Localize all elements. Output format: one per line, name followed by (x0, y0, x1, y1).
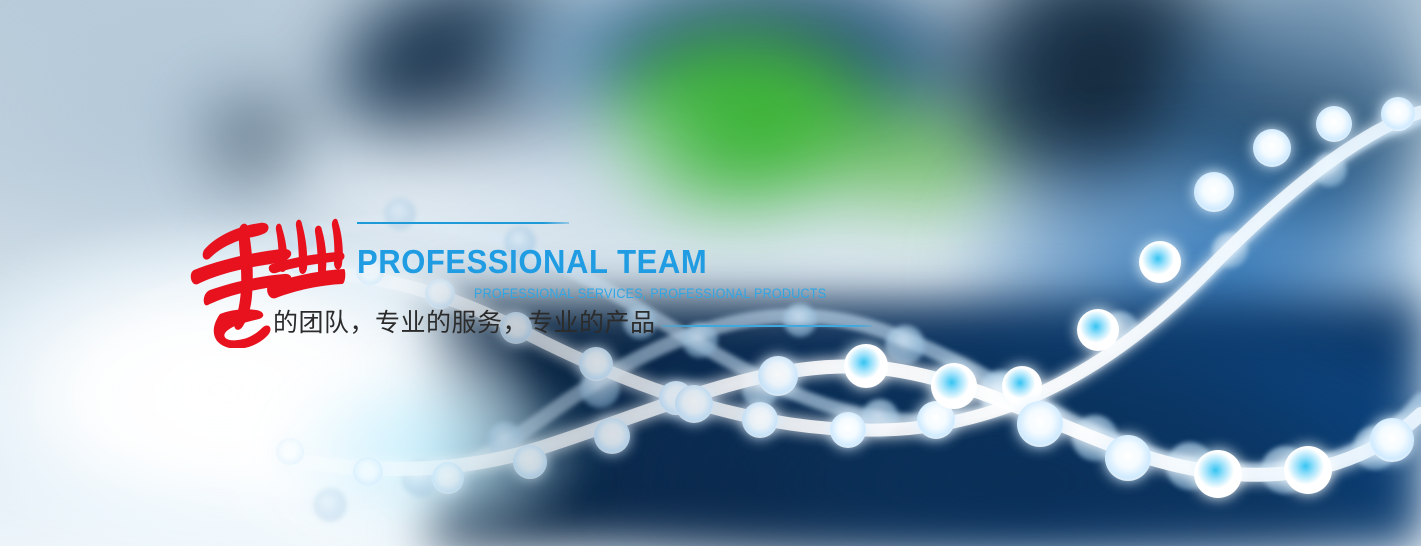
promotional-banner: PROFESSIONAL TEAM PROFESSIONAL SERVICES,… (0, 0, 1421, 546)
dna-double-helix-graphic (0, 0, 1421, 546)
